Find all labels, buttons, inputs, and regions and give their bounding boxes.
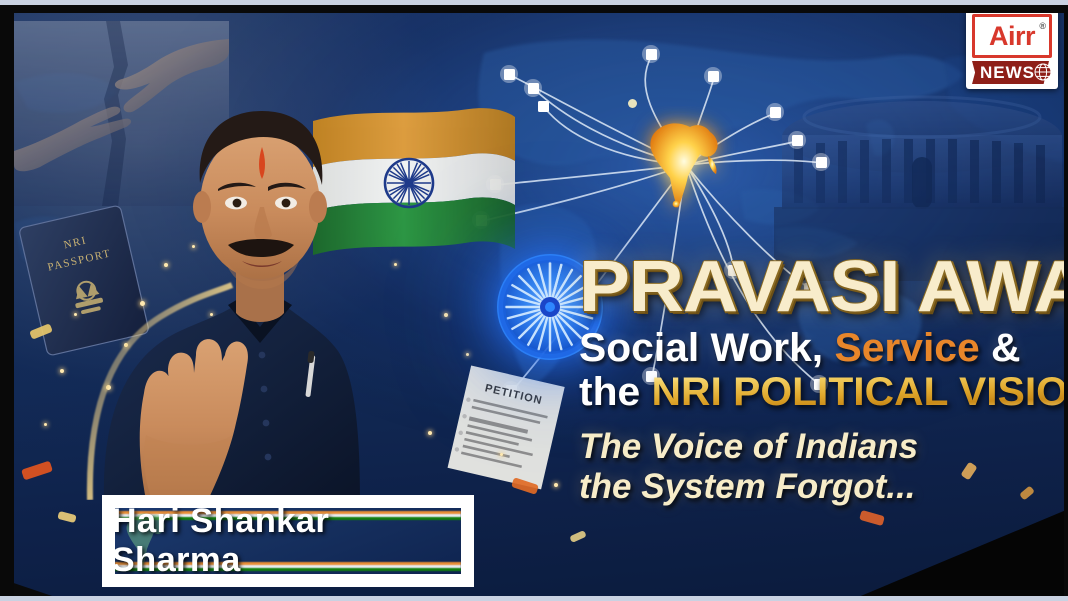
logo-brand-text: Airr	[989, 23, 1035, 50]
stamp-inner-panel: Hari Shankar Sharma	[115, 508, 461, 574]
poster-artwork: NRI PASSPORT PETITION	[14, 13, 1064, 596]
globe-icon	[1034, 63, 1052, 81]
guest-name-label: Hari Shankar Sharma	[115, 508, 461, 574]
right-black-bar	[1064, 5, 1068, 596]
logo-airr-box: Airr ®	[972, 14, 1052, 58]
india-glow-highlight	[642, 118, 730, 214]
left-black-bar	[0, 5, 14, 596]
poster-subhead-line-1: Social Work, Service &	[579, 327, 1058, 369]
subhead-social-work: Social Work,	[579, 326, 823, 370]
bottom-edge-strip	[0, 596, 1068, 601]
poster-subhead-line-2: the NRI POLITICAL VISION	[579, 371, 1058, 413]
poster-tagline-line-2: the System Forgot...	[579, 467, 1049, 506]
poster-text-block: PRAVASI AWAAZ Social Work, Service & the…	[579, 253, 1049, 506]
poster-tagline-line-1: The Voice of Indians	[579, 427, 1049, 466]
subhead-nri-political-vision: NRI POLITICAL VISION	[652, 370, 1064, 414]
airr-news-logo[interactable]: Airr ® NEWS	[966, 9, 1058, 89]
guest-speaker-photo	[76, 55, 361, 500]
flag-ashoka-chakra	[385, 159, 433, 207]
top-edge-strip	[0, 0, 1068, 5]
subhead-ampersand: &	[991, 326, 1020, 370]
subhead-the: the	[579, 370, 640, 414]
logo-news-banner: NEWS	[972, 61, 1052, 84]
poster-headline: PRAVASI AWAAZ	[579, 253, 1064, 321]
guest-name-stamp: Hari Shankar Sharma	[102, 495, 474, 587]
top-black-bar	[0, 5, 1068, 13]
video-thumbnail-frame: NRI PASSPORT PETITION	[0, 0, 1068, 601]
registered-trademark-icon: ®	[1039, 21, 1046, 31]
subhead-service: Service	[834, 326, 979, 370]
